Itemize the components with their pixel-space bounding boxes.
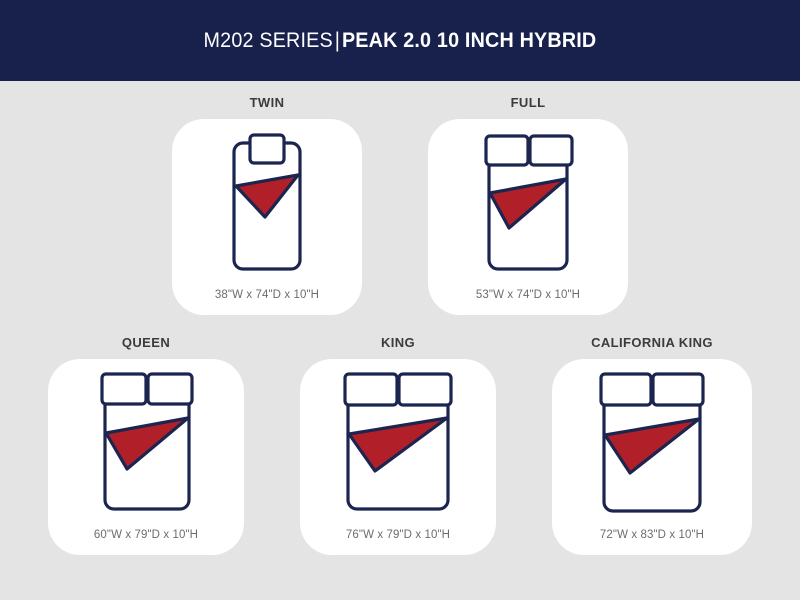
dimensions-full: 53"W x 74"D x 10"H	[476, 289, 580, 301]
size-block-full: FULL 53"W x 74"D x 10"H	[428, 95, 628, 315]
dimensions-twin: 38"W x 74"D x 10"H	[215, 289, 319, 301]
size-label-queen: QUEEN	[122, 335, 170, 350]
series-label: M202 SERIES	[204, 29, 333, 52]
size-card-twin[interactable]: 38"W x 74"D x 10"H	[172, 119, 362, 315]
bed-diagram-single-pillow-icon	[222, 133, 312, 273]
bed-diagram-two-pillow-icon	[333, 371, 463, 513]
size-block-queen: QUEEN 60"W x 79"D x 10"H	[48, 335, 244, 555]
bed-illustration-california-king	[588, 371, 716, 515]
product-name: PEAK 2.0 10 INCH HYBRID	[342, 29, 596, 52]
size-card-full[interactable]: 53"W x 74"D x 10"H	[428, 119, 628, 315]
header-bar: M202 SERIES|PEAK 2.0 10 INCH HYBRID	[0, 0, 800, 81]
size-row-top: TWIN 38"W x 74"D x 10"H FULL	[0, 95, 800, 315]
size-cards-container: TWIN 38"W x 74"D x 10"H FULL	[0, 81, 800, 600]
bed-illustration-queen	[87, 371, 205, 513]
dimensions-king: 76"W x 79"D x 10"H	[346, 529, 450, 541]
bed-illustration-twin	[222, 133, 312, 273]
bed-illustration-full	[473, 133, 583, 273]
bed-diagram-two-pillow-icon	[473, 133, 583, 273]
size-card-california-king[interactable]: 72"W x 83"D x 10"H	[552, 359, 752, 555]
size-card-king[interactable]: 76"W x 79"D x 10"H	[300, 359, 496, 555]
page-title: M202 SERIES|PEAK 2.0 10 INCH HYBRID	[204, 29, 597, 53]
size-chart-page: M202 SERIES|PEAK 2.0 10 INCH HYBRID TWIN	[0, 0, 800, 600]
dimensions-california-king: 72"W x 83"D x 10"H	[600, 529, 704, 541]
size-label-twin: TWIN	[250, 95, 285, 110]
size-block-king: KING 76"W x 79"D x 10"H	[300, 335, 496, 555]
size-block-california-king: CALIFORNIA KING 72"W x 83"D x 10"H	[552, 335, 752, 555]
size-label-king: KING	[381, 335, 415, 350]
title-separator: |	[333, 29, 342, 52]
size-block-twin: TWIN 38"W x 74"D x 10"H	[172, 95, 362, 315]
size-label-california-king: CALIFORNIA KING	[591, 335, 713, 350]
dimensions-queen: 60"W x 79"D x 10"H	[94, 529, 198, 541]
bed-illustration-king	[333, 371, 463, 513]
bed-diagram-two-pillow-icon	[588, 371, 716, 515]
size-card-queen[interactable]: 60"W x 79"D x 10"H	[48, 359, 244, 555]
bed-diagram-two-pillow-icon	[87, 371, 205, 513]
size-row-bottom: QUEEN 60"W x 79"D x 10"H KING	[0, 335, 800, 555]
size-label-full: FULL	[511, 95, 546, 110]
